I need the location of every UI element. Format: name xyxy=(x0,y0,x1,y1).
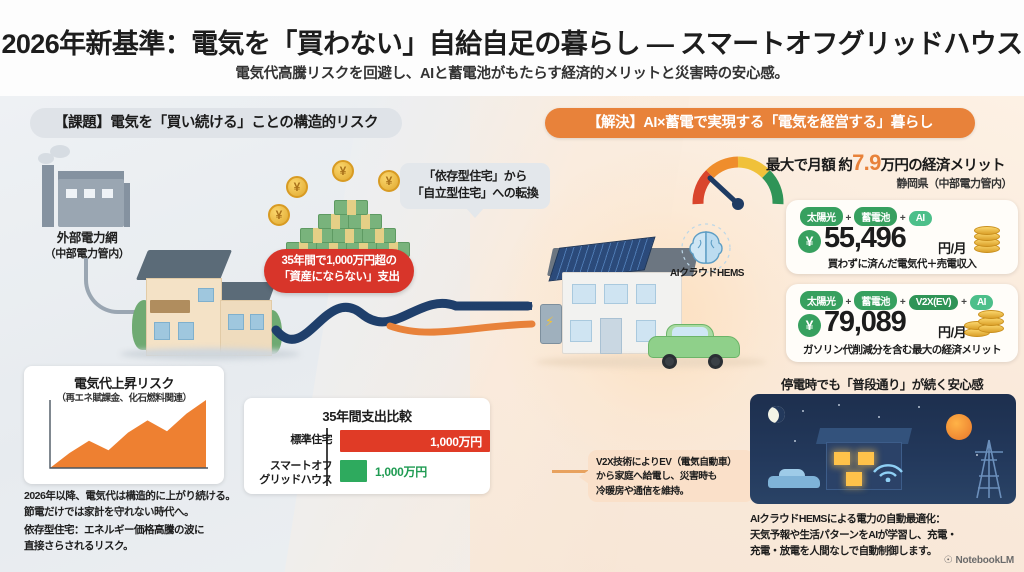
note-dependent-risk: 依存型住宅：エネルギー価格高騰の波に 直接さらされるリスク。 xyxy=(24,523,239,555)
section-header-solution: 【解決】AI×蓄電で実現する「電気を経営する」暮らし xyxy=(545,108,975,138)
benefit-amount-2: 79,089 xyxy=(824,306,906,339)
bars-chart-title: 35年間支出比較 xyxy=(244,406,490,425)
transition-callout: 「依存型住宅」から 「自立型住宅」への転換 xyxy=(400,163,550,209)
table-row: スマートオフ グリッドハウス 1,000万円 xyxy=(256,460,486,486)
blackout-illustration xyxy=(750,394,1016,504)
note-dependent-risk-line2: 直接さらされるリスク。 xyxy=(24,539,239,555)
bar-value-smart: 1,000万円 xyxy=(375,463,427,480)
bar-category-line1: スマートオフ xyxy=(256,460,332,474)
benefit-card-solar-battery-ai: 太陽光+蓄電池+AI ¥ 55,496 円/月 買わずに済んだ電気代＋売電収入 xyxy=(786,200,1018,274)
gauge-prefix: 最大で月額 約 xyxy=(766,158,852,174)
benefit-card-solar-battery-v2x-ai: 太陽光+蓄電池+V2X(EV)+AI ¥ 79,089 円/月 ガソリン代削減分… xyxy=(786,284,1018,362)
benefit-unit-1: 円/月 xyxy=(938,238,966,257)
table-row: 標準住宅 1,000万円 xyxy=(256,430,486,456)
yen-coin-icon: ¥ xyxy=(332,160,354,182)
solar-glow-icon xyxy=(946,414,972,440)
page-subtitle: 電気代高騰リスクを回避し、AIと蓄電池がもたらす経済的メリットと災害時の安心感。 xyxy=(0,62,1024,83)
moon-icon xyxy=(768,406,785,423)
tag-v2x: V2X(EV) xyxy=(909,295,958,310)
gauge-headline: 最大で月額 約7.9万円の経済メリット xyxy=(766,150,1024,176)
note-price-trend: 2026年以降、電気代は構造的に上がり続ける。 節電だけでは家計を守れない時代へ… xyxy=(24,489,239,521)
section-header-problem: 【課題】電気を「買い続ける」ことの構造的リスク xyxy=(30,108,402,138)
battery-storage-icon xyxy=(540,304,562,344)
tag-ai: AI xyxy=(909,211,932,226)
yen-coin-icon: ¥ xyxy=(286,176,308,198)
benefit-caption-1: 買わずに済んだ電気代＋売電収入 xyxy=(786,256,1018,271)
watermark-label: NotebookLM xyxy=(955,555,1014,566)
v2x-callout-line2: から家庭へ給電し、災害時も xyxy=(596,470,746,484)
bar-category-label: 標準住宅 xyxy=(256,434,332,448)
ev-car-illustration xyxy=(648,322,740,368)
electricity-price-chart-card: 電気代上昇リスク （再エネ賦課金、化石燃料関連） xyxy=(24,366,224,484)
coin-stack-icon xyxy=(966,224,1010,254)
note-dependent-risk-line1: 依存型住宅：エネルギー価格高騰の波に xyxy=(24,523,239,539)
price-rise-area-chart xyxy=(40,388,212,476)
v2x-callout-line3: 冷暖房や通信を維持。 xyxy=(596,485,746,499)
gauge-region-label: 静岡県（中部電力管内） xyxy=(766,175,1012,191)
note-price-trend-line1: 2026年以降、電気代は構造的に上がり続ける。 xyxy=(24,489,239,505)
dependent-house-illustration xyxy=(132,238,282,356)
night-ev-icon xyxy=(768,468,820,490)
note-hems-automation: AIクラウドHEMSによる電力の自動最適化： 天気予報や生活パターンをAIが学習… xyxy=(750,512,1024,559)
yen-symbol-icon: ¥ xyxy=(798,230,821,253)
bar-category-label: スマートオフ グリッドハウス xyxy=(256,460,332,488)
hems-label: AIクラウドHEMS xyxy=(655,264,759,279)
notebooklm-icon: ☉ xyxy=(944,555,953,566)
benefit-amount-1: 55,496 xyxy=(824,222,906,255)
transition-line2: 「自立型住宅」への転換 xyxy=(400,185,550,202)
wifi-icon xyxy=(868,448,908,482)
power-plant-icon xyxy=(40,165,130,227)
bar-smart-offgrid-house xyxy=(340,460,367,482)
note-price-trend-line2: 節電だけでは家計を守れない時代へ。 xyxy=(24,505,239,521)
benefit-caption-2: ガソリン代削減分を含む最大の経済メリット xyxy=(786,342,1018,357)
energy-flow-arrow xyxy=(270,270,540,365)
watermark: ☉NotebookLM xyxy=(944,555,1014,566)
transmission-tower-icon xyxy=(972,438,1006,500)
bar-value-standard: 1,000万円 xyxy=(430,433,482,450)
v2x-callout: V2X技術によりEV（電気自動車） から家庭へ給電し、災害時も 冷暖房や通信を維… xyxy=(588,450,754,502)
gauge-value: 7.9 xyxy=(852,150,880,175)
infographic-canvas: 2026年新基準：電気を「買わない」自給自足の暮らし ― スマートオフグリッドハ… xyxy=(0,0,1024,572)
yen-coin-icon: ¥ xyxy=(268,204,290,226)
yen-symbol-icon: ¥ xyxy=(798,314,821,337)
note-hems-line2: 天気予報や生活パターンをAIが学習し、充電・ xyxy=(750,528,1024,544)
bar-standard-house: 1,000万円 xyxy=(340,430,490,452)
note-hems-line1: AIクラウドHEMSによる電力の自動最適化： xyxy=(750,512,1024,528)
gauge-suffix: 万円の経済メリット xyxy=(881,158,1005,174)
spending-comparison-card: 35年間支出比較 標準住宅 1,000万円 スマートオフ グリッドハウス 1,0… xyxy=(244,398,490,494)
transition-line1: 「依存型住宅」から xyxy=(400,168,550,185)
blackout-panel-title: 停電時でも「普段通り」が続く安心感 xyxy=(740,374,1024,393)
v2x-callout-line1: V2X技術によりEV（電気自動車） xyxy=(596,456,746,470)
page-title: 2026年新基準：電気を「買わない」自給自足の暮らし ― スマートオフグリッドハ… xyxy=(0,22,1024,61)
coin-stack-icon xyxy=(964,306,1008,336)
yen-coin-icon: ¥ xyxy=(378,170,400,192)
cost-warning-line1: 35年間で1,000万円超の xyxy=(264,254,414,270)
bar-category-line2: グリッドハウス xyxy=(256,474,332,488)
benefit-unit-2: 円/月 xyxy=(938,322,966,341)
